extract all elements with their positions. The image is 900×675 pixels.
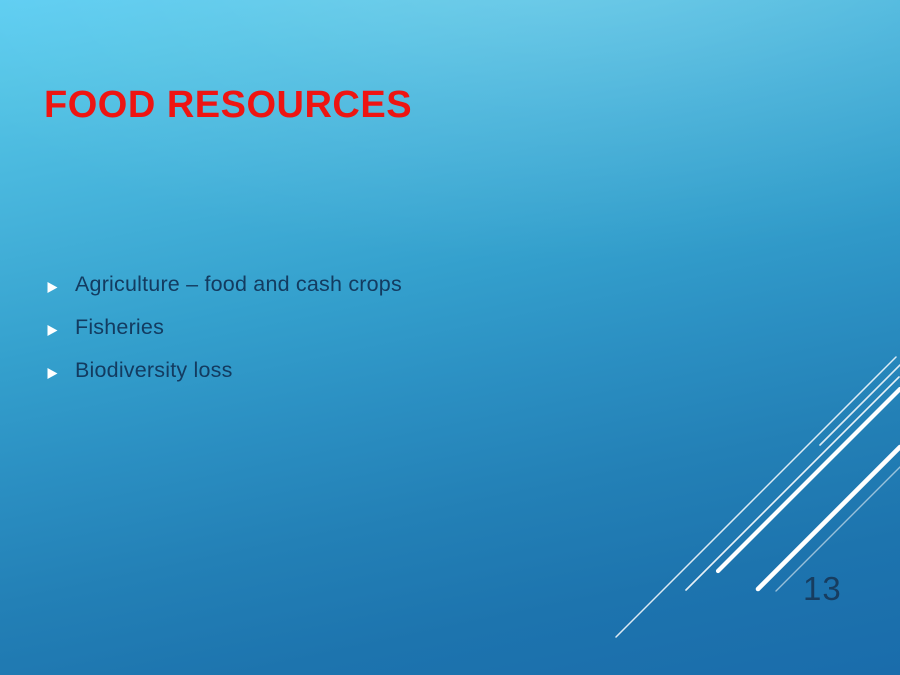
list-item: Fisheries [46,315,686,358]
triangle-right-icon [46,324,59,337]
page-title: FOOD RESOURCES [44,84,412,128]
triangle-right-icon [46,367,59,380]
list-item-label: Agriculture – food and cash crops [75,272,402,297]
bullet-list: Agriculture – food and cash crops Fisher… [46,272,686,401]
list-item: Agriculture – food and cash crops [46,272,686,315]
list-item-label: Fisheries [75,315,164,340]
slide-canvas: FOOD RESOURCES Agriculture – food and ca… [0,0,900,675]
diagonal-streak-lines [600,355,900,675]
list-item-label: Biodiversity loss [75,358,233,383]
triangle-right-icon [46,281,59,294]
list-item: Biodiversity loss [46,358,686,401]
page-number: 13 [803,572,842,605]
